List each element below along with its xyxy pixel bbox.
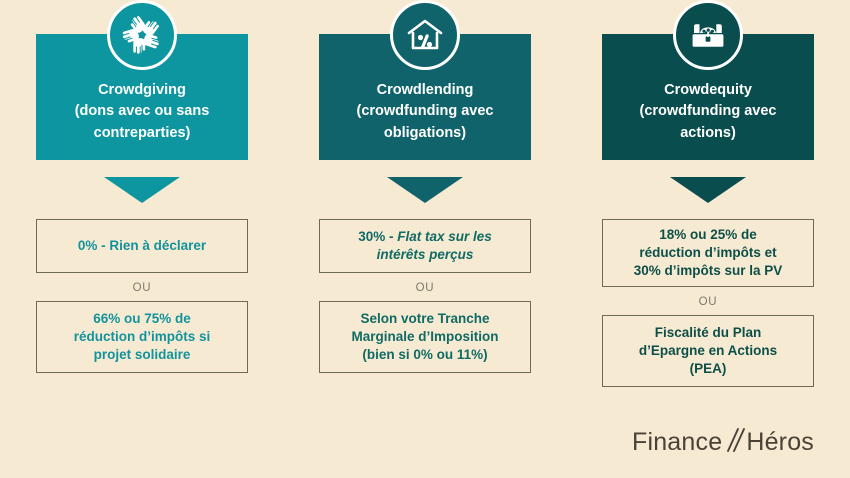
outcome-emphasis-2: intérêts perçus: [358, 246, 492, 264]
outcome-line-1: Selon votre Tranche: [351, 310, 498, 328]
outcome-line-2: Marginale d’Imposition: [351, 328, 498, 346]
column-crowdequity: Crowdequity (crowdfunding avec actions) …: [602, 0, 814, 415]
brand-logo: Finance Héros: [632, 425, 814, 460]
header-title-line3: contreparties): [75, 123, 210, 144]
arrow-down-crowdlending: [387, 177, 463, 203]
or-separator-crowdequity: OU: [699, 296, 718, 308]
or-separator-crowdgiving: OU: [133, 282, 152, 294]
outcome-line-2: réduction d’impôts si: [74, 328, 211, 346]
outcome-line-3: (bien si 0% ou 11%): [351, 346, 498, 364]
outcome-line-1: 18% ou 25% de: [634, 226, 783, 244]
logo-text-part1: Finance: [632, 428, 722, 457]
columns-container: Crowdgiving (dons avec ou sans contrepar…: [0, 0, 850, 415]
header-title-line2: (dons avec ou sans: [75, 101, 210, 122]
column-crowdgiving: Crowdgiving (dons avec ou sans contrepar…: [36, 0, 248, 415]
header-title-line1: Crowdequity: [640, 80, 777, 101]
outcome-prefix: 30% -: [358, 229, 397, 244]
outcome-emphasis-1: Flat tax sur les: [397, 229, 492, 244]
logo-separator-icon: [723, 426, 745, 461]
arrow-down-crowdgiving: [104, 177, 180, 203]
header-title-line2: (crowdfunding avec: [357, 101, 494, 122]
outcome-box-crowdgiving-2: 66% ou 75% de réduction d’impôts si proj…: [36, 301, 248, 373]
outcome-box-crowdequity-1: 18% ou 25% de réduction d’impôts et 30% …: [602, 219, 814, 287]
house-percent-icon: [390, 0, 460, 70]
outcome-box-crowdequity-2: Fiscalité du Plan d’Epargne en Actions (…: [602, 315, 814, 387]
outcome-box-crowdlending-1: 30% - Flat tax sur les intérêts perçus: [319, 219, 531, 273]
logo-text-part2: Héros: [746, 428, 814, 457]
header-title-line2: (crowdfunding avec: [640, 101, 777, 122]
or-separator-crowdlending: OU: [416, 282, 435, 294]
header-title-line1: Crowdgiving: [75, 80, 210, 101]
outcome-line-3: 30% d’impôts sur la PV: [634, 262, 783, 280]
header-title-line3: actions): [640, 123, 777, 144]
outcome-line-1: Fiscalité du Plan: [639, 324, 777, 342]
outcome-box-crowdgiving-1: 0% - Rien à déclarer: [36, 219, 248, 273]
outcome-line-2: réduction d’impôts et: [634, 244, 783, 262]
header-title-line1: Crowdlending: [357, 80, 494, 101]
infographic-canvas: Crowdgiving (dons avec ou sans contrepar…: [0, 0, 850, 478]
outcome-line-1: 0% - Rien à déclarer: [78, 237, 206, 255]
outcome-line-3: (PEA): [639, 360, 777, 378]
header-title-line3: obligations): [357, 123, 494, 144]
arrow-down-crowdequity: [670, 177, 746, 203]
outcome-line-3: projet solidaire: [74, 346, 211, 364]
outcome-line-2: d’Epargne en Actions: [639, 342, 777, 360]
hands-circle-icon: [107, 0, 177, 70]
column-crowdlending: Crowdlending (crowdfunding avec obligati…: [319, 0, 531, 415]
outcome-line-1: 30% - Flat tax sur les: [358, 228, 492, 246]
outcome-box-crowdlending-2: Selon votre Tranche Marginale d’Impositi…: [319, 301, 531, 373]
outcome-line-1: 66% ou 75% de: [74, 310, 211, 328]
treasure-chest-icon: [673, 0, 743, 70]
